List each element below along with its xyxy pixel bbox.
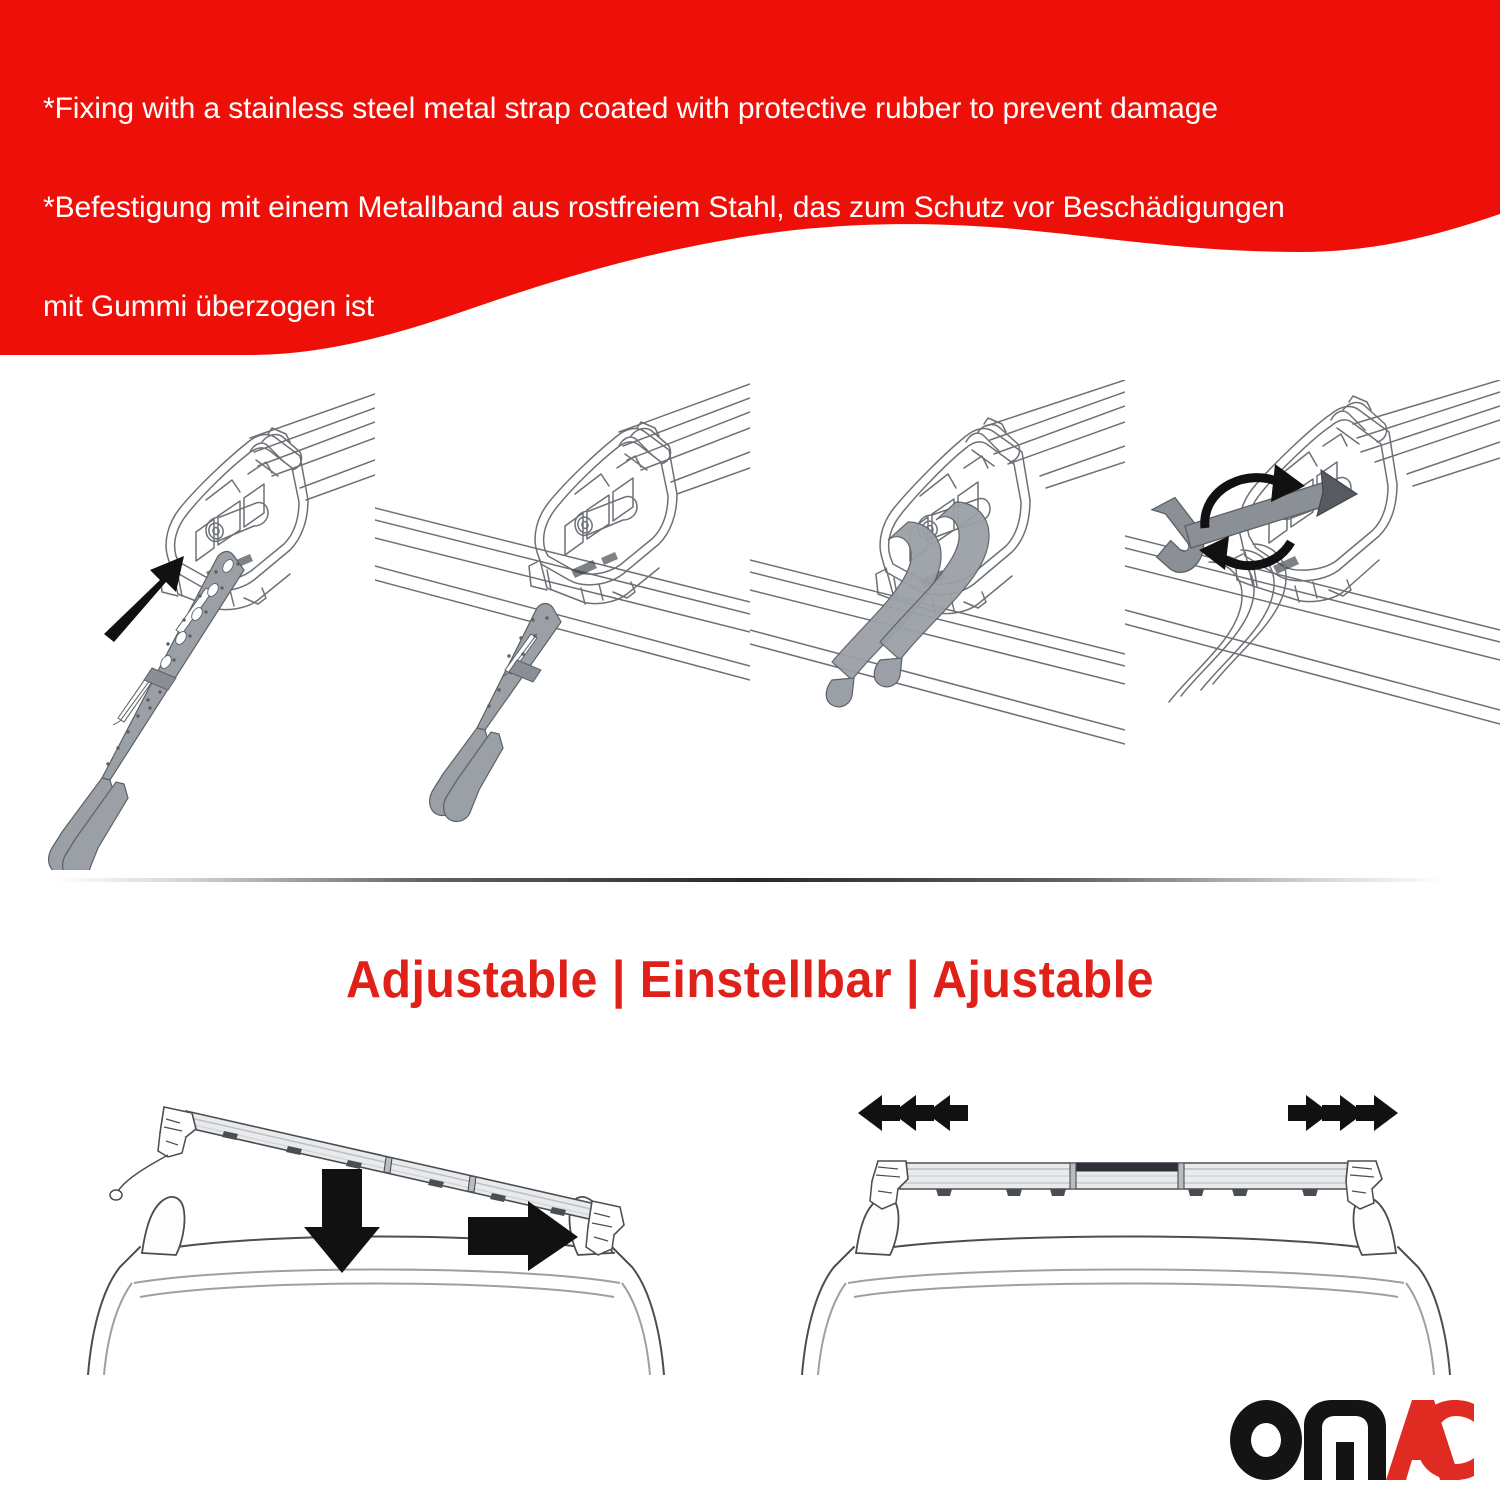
metal-strap-shape: [430, 604, 561, 822]
section-divider: [55, 878, 1445, 882]
strap-wrapped-icon: [750, 380, 1125, 870]
omac-logo: [1228, 1398, 1476, 1482]
triple-right-arrow: [1288, 1095, 1398, 1131]
crossbar-shape: [870, 1161, 1382, 1209]
roof-rack-foot-on-rail-icon: [375, 380, 750, 870]
banner-line-de-1: *Befestigung mit einem Metallband aus ro…: [43, 191, 1463, 224]
omac-logo-mark: [1228, 1398, 1476, 1482]
crossbar-lowering-onto-roof: [0, 1075, 750, 1375]
crossbar-width-adjust-icon: [750, 1075, 1500, 1375]
adjustability-illustrations-row: [0, 1075, 1500, 1375]
crossbar-width-adjustment: [750, 1075, 1500, 1375]
up-right-arrow: [104, 556, 184, 642]
down-arrow: [304, 1169, 380, 1273]
roof-rack-foot-with-strap-icon: [0, 380, 375, 870]
banner-line-de-2: mit Gummi überzogen ist: [43, 290, 1463, 323]
banner-line-en: *Fixing with a stainless steel metal str…: [43, 92, 1463, 125]
step-1-insert-strap-into-foot: [0, 380, 375, 870]
installation-steps-row: [0, 380, 1500, 870]
crossbar-lowering-icon: [0, 1075, 750, 1375]
wrapped-strap-shape: [826, 502, 989, 707]
adjustable-headline: Adjustable | Einstellbar | Ajustable: [53, 950, 1448, 1010]
allen-key-rotation-icon: [1125, 380, 1500, 870]
triple-left-arrow: [858, 1095, 968, 1131]
step-4-tighten-with-allen-key: [1125, 380, 1500, 870]
product-infographic-page: *Fixing with a stainless steel metal str…: [0, 0, 1500, 1500]
banner-text-block: *Fixing with a stainless steel metal str…: [43, 26, 1463, 380]
step-3-strap-wrapped-around-rail: [750, 380, 1125, 870]
header-banner: *Fixing with a stainless steel metal str…: [0, 0, 1500, 380]
step-2-foot-placed-on-rail: [375, 380, 750, 870]
